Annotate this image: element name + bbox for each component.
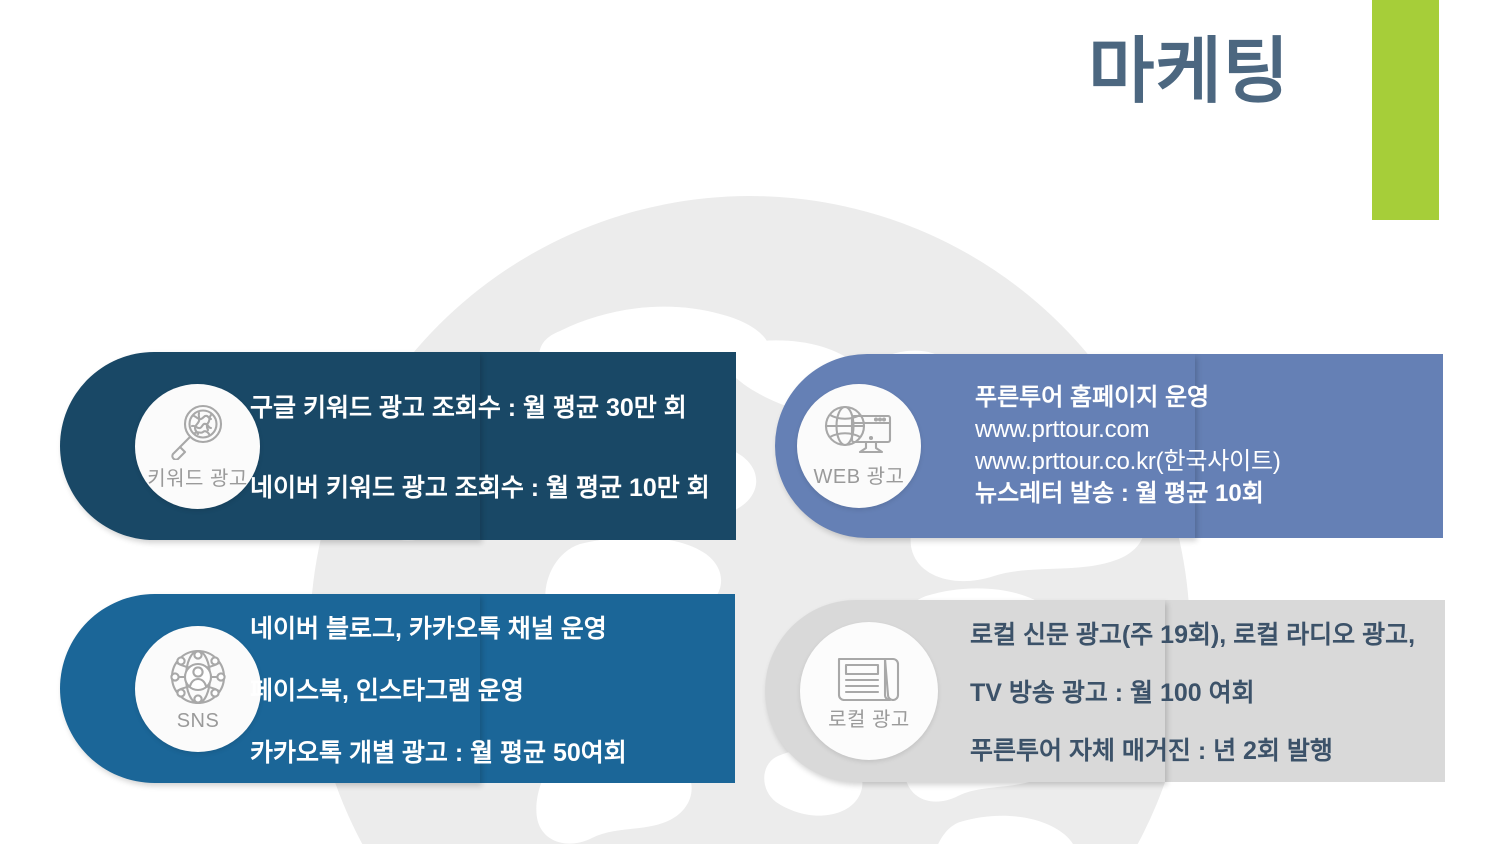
card-line: www.prttour.com: [975, 414, 1281, 446]
card-line: www.prttour.co.kr(한국사이트): [975, 446, 1281, 478]
newspaper-icon: [835, 651, 903, 701]
card-line: 푸른투어 자체 매거진 : 년 2회 발행: [970, 731, 1415, 767]
card-local-ads: 로컬 광고 로컬 신문 광고(주 19회), 로컬 라디오 광고, TV 방송 …: [765, 600, 1445, 782]
card-line: 네이버 블로그, 카카오톡 채널 운영: [250, 609, 627, 645]
card-text-keyword: 구글 키워드 광고 조회수 : 월 평균 30만 회 네이버 키워드 광고 조회…: [250, 352, 710, 540]
page-title: 마케팅: [1088, 36, 1290, 108]
globe-monitor-icon: [824, 404, 894, 458]
badge-keyword-ads: 키워드 광고: [135, 384, 260, 509]
magnifier-globe-icon: [167, 402, 229, 460]
card-line: 페이스북, 인스타그램 운영: [250, 671, 627, 707]
card-text-web: 푸른투어 홈페이지 운영 www.prttour.com www.prttour…: [975, 354, 1281, 538]
badge-sns: SNS: [135, 626, 261, 752]
card-text-local: 로컬 신문 광고(주 19회), 로컬 라디오 광고, TV 방송 광고 : 월…: [970, 600, 1415, 782]
card-line: TV 방송 광고 : 월 100 여회: [970, 673, 1415, 709]
card-text-sns: 네이버 블로그, 카카오톡 채널 운영 페이스북, 인스타그램 운영 카카오톡 …: [250, 594, 627, 783]
badge-label: 로컬 광고: [828, 703, 910, 732]
card-line: 뉴스레터 발송 : 월 평균 10회: [975, 478, 1281, 510]
card-web-ads: WEB 광고 푸른투어 홈페이지 운영 www.prttour.com www.…: [775, 354, 1443, 538]
card-line: 구글 키워드 광고 조회수 : 월 평균 30만 회: [250, 388, 710, 424]
card-line: 카카오톡 개별 광고 : 월 평균 50여회: [250, 733, 627, 769]
slide-canvas: 마케팅 키워드 광고 구글 키워드 광고 조회수: [0, 0, 1500, 844]
accent-bar: [1372, 0, 1439, 220]
badge-local-ads: 로컬 광고: [800, 622, 938, 760]
badge-label: WEB 광고: [814, 460, 905, 489]
card-keyword-ads: 키워드 광고 구글 키워드 광고 조회수 : 월 평균 30만 회 네이버 키워…: [60, 352, 736, 540]
badge-label: SNS: [177, 710, 220, 733]
card-line: 푸른투어 홈페이지 운영: [975, 382, 1281, 414]
card-line: 네이버 키워드 광고 조회수 : 월 평균 10만 회: [250, 468, 710, 504]
globe-network-person-icon: [167, 646, 229, 708]
badge-web-ads: WEB 광고: [797, 384, 921, 508]
badge-label: 키워드 광고: [147, 462, 248, 491]
card-line: 로컬 신문 광고(주 19회), 로컬 라디오 광고,: [970, 615, 1415, 651]
card-sns-ads: SNS 네이버 블로그, 카카오톡 채널 운영 페이스북, 인스타그램 운영 카…: [60, 594, 735, 783]
